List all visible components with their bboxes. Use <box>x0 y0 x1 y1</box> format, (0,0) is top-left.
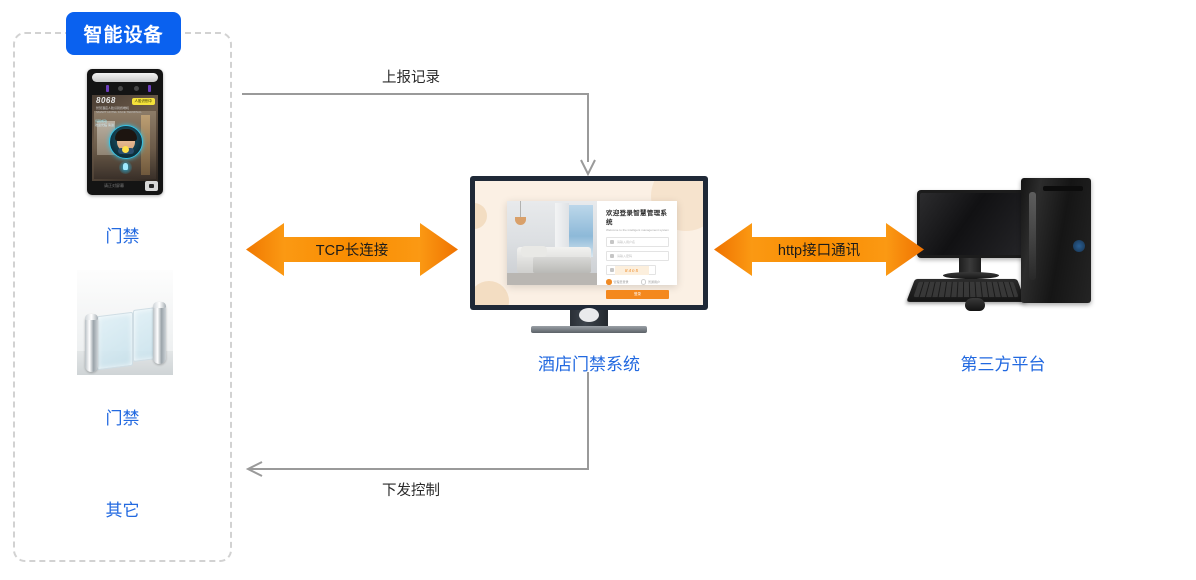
radio-dot-icon <box>641 279 647 285</box>
captcha-image[interactable]: 84n5 <box>615 266 649 275</box>
check-badge-icon <box>122 146 129 153</box>
terminal-model-number: 8068 <box>96 97 116 105</box>
connector-issue-control <box>238 372 598 477</box>
camera-icon <box>145 181 158 191</box>
terminal-sub-line-2: SMART HOTEL FACE TERMINAL <box>96 110 142 114</box>
login-form: 欢迎登录智慧管理系统 Welcome to the intelligent ma… <box>597 201 677 285</box>
shield-icon <box>610 268 614 272</box>
photo-pillow <box>521 246 547 257</box>
terminal-status-secondary: 欢迎光临 请进 <box>95 123 114 127</box>
face-detect-ring <box>109 125 143 159</box>
password-field[interactable]: 请输入密码 <box>606 251 669 261</box>
password-placeholder: 请输入密码 <box>617 254 632 259</box>
pc-tower <box>1021 178 1091 303</box>
optical-drive-slot <box>1043 186 1083 191</box>
hotel-room-photo <box>507 201 597 285</box>
login-role-radios: 管理员登录 普通用户 <box>606 279 669 285</box>
third-party-caption: 第三方平台 <box>915 350 1091 375</box>
photo-lamp <box>515 217 526 225</box>
ir-led-icon <box>106 85 109 92</box>
login-card: 欢迎登录智慧管理系统 Welcome to the intelligent ma… <box>507 201 677 285</box>
login-submit-button[interactable]: 登录 <box>606 290 669 299</box>
gate-glass-wing <box>97 312 133 370</box>
terminal-light-bar <box>92 73 158 82</box>
captcha-field[interactable]: 验证码 84n5 <box>606 265 656 275</box>
terminal-screen: 8068 智慧酒店人脸识别终端机 SMART HOTEL FACE TERMIN… <box>92 95 158 181</box>
face-recognition-terminal-image: 8068 智慧酒店人脸识别终端机 SMART HOTEL FACE TERMIN… <box>87 69 163 195</box>
monitor-base <box>531 326 647 333</box>
radio-user-label: 普通用户 <box>648 280 660 284</box>
camera-lens-icon <box>134 86 139 91</box>
gate-post <box>85 314 98 372</box>
user-icon <box>610 240 614 244</box>
hotel-system-monitor-image: 欢迎登录智慧管理系统 Welcome to the intelligent ma… <box>470 176 708 321</box>
arrow-http-interface: http接口通讯 <box>714 221 924 278</box>
tower-logo-icon <box>1073 240 1085 252</box>
device-label-access-1: 门禁 <box>13 222 232 247</box>
speed-gate-image <box>77 270 173 375</box>
fingerprint-icon <box>119 161 132 174</box>
radio-user[interactable]: 普通用户 <box>641 279 661 285</box>
login-title: 欢迎登录智慧管理系统 <box>606 209 669 227</box>
connector-report-label: 上报记录 <box>382 66 440 87</box>
terminal-footer-text: 请正对屏幕 <box>104 183 124 189</box>
arrow-tcp-long-connection: TCP长连接 <box>246 221 458 278</box>
terminal-corner-badge: 人脸识别中 <box>132 98 156 105</box>
gate-post <box>153 302 166 364</box>
monitor-screen: 欢迎登录智慧管理系统 Welcome to the intelligent ma… <box>475 181 703 305</box>
double-arrow-icon <box>714 221 924 278</box>
third-party-pc-image <box>915 168 1091 328</box>
device-label-access-2: 门禁 <box>13 404 232 429</box>
photo-floor <box>507 273 597 285</box>
radio-dot-icon <box>606 279 612 285</box>
monitor-bezel: 欢迎登录智慧管理系统 Welcome to the intelligent ma… <box>470 176 708 310</box>
login-subtitle: Welcome to the intelligent management sy… <box>606 227 669 233</box>
decor-blob <box>475 203 487 229</box>
username-field[interactable]: 请输入用户名 <box>606 237 669 247</box>
diagram-canvas: 智能设备 8068 智慧酒店人脸识别终端机 SMART HOTEL FACE T… <box>0 0 1196 580</box>
device-group-badge: 智能设备 <box>66 12 181 55</box>
terminal-bottom-bar: 请正对屏幕 <box>92 181 158 191</box>
decor-blob <box>475 281 509 305</box>
ir-led-icon <box>148 85 151 92</box>
keyboard-icon <box>906 279 1025 302</box>
pc-screen <box>920 193 1022 255</box>
photo-blanket <box>533 257 591 273</box>
camera-lens-icon <box>118 86 123 91</box>
device-group-badge-label: 智能设备 <box>83 20 163 47</box>
radio-admin[interactable]: 管理员登录 <box>606 279 629 285</box>
username-placeholder: 请输入用户名 <box>617 240 635 245</box>
mouse-icon <box>965 298 985 311</box>
radio-admin-label: 管理员登录 <box>614 280 629 284</box>
connector-control-label: 下发控制 <box>382 479 440 500</box>
pc-monitor <box>917 190 1025 258</box>
double-arrow-icon <box>246 221 458 278</box>
terminal-sensor-row <box>92 85 158 92</box>
device-label-other: 其它 <box>13 496 232 521</box>
lock-icon <box>610 254 614 258</box>
